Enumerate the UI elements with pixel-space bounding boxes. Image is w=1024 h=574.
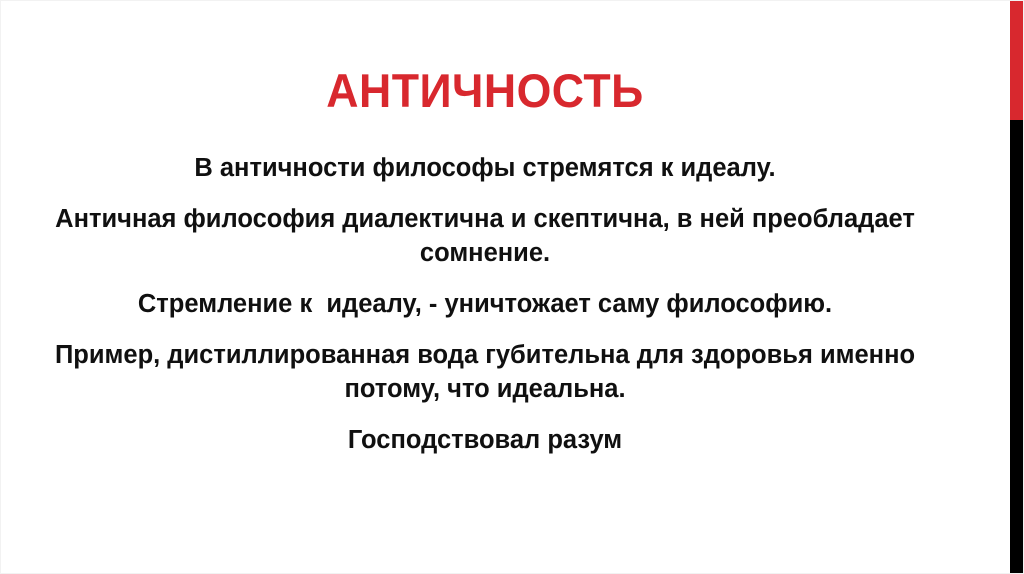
body-paragraph-5: Господствовал разум xyxy=(35,423,935,457)
accent-bar xyxy=(1010,1,1023,574)
body-paragraph-2: Античная философия диалектична и скептич… xyxy=(35,202,935,270)
accent-bar-black-segment xyxy=(1010,120,1023,574)
slide-content: АНТИЧНОСТЬ В античности философы стремят… xyxy=(1,1,969,574)
slide-body: В античности философы стремятся к идеалу… xyxy=(35,151,935,457)
page-title: АНТИЧНОСТЬ xyxy=(25,63,945,119)
accent-bar-red-segment xyxy=(1010,1,1023,120)
body-paragraph-4: Пример, дистиллированная вода губительна… xyxy=(35,338,935,406)
body-paragraph-3: Стремление к идеалу, - уничтожает саму ф… xyxy=(35,287,935,321)
body-paragraph-1: В античности философы стремятся к идеалу… xyxy=(35,151,935,185)
presentation-slide: АНТИЧНОСТЬ В античности философы стремят… xyxy=(0,0,1024,574)
